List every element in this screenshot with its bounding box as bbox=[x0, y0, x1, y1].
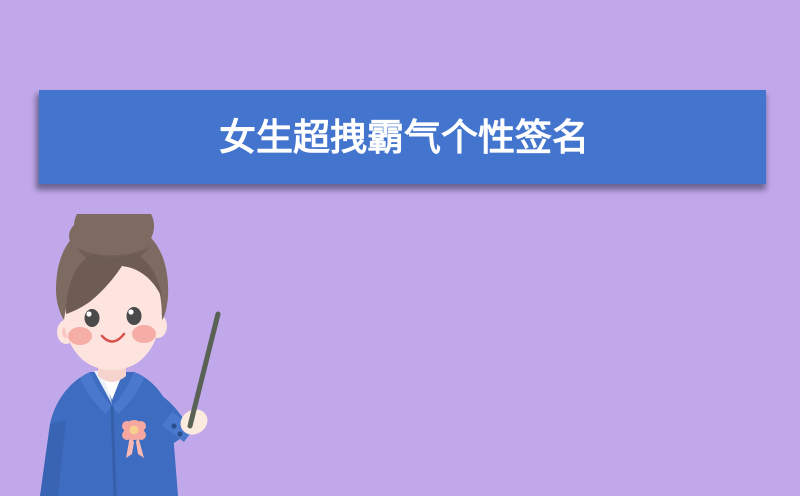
sleeve-button-bottom bbox=[177, 431, 182, 436]
hair-bun-side bbox=[69, 221, 101, 251]
page-root: 女生超拽霸气个性签名 bbox=[0, 0, 800, 496]
eye-right-highlight bbox=[128, 309, 133, 314]
title-banner: 女生超拽霸气个性签名 bbox=[39, 90, 766, 184]
pointer-stick bbox=[190, 314, 218, 426]
rosette-center bbox=[130, 426, 139, 435]
eye-left bbox=[85, 309, 100, 327]
eye-left-highlight bbox=[86, 311, 91, 316]
title-banner-wrapper: 女生超拽霸气个性签名 bbox=[36, 90, 766, 186]
page-title: 女生超拽霸气个性签名 bbox=[219, 119, 589, 156]
teacher-illustration bbox=[22, 214, 237, 496]
teacher-illustration-svg bbox=[22, 214, 237, 496]
sleeve-button-top bbox=[171, 423, 176, 428]
eye-right bbox=[127, 307, 142, 325]
blush-left bbox=[68, 327, 92, 345]
blush-right bbox=[132, 325, 156, 343]
